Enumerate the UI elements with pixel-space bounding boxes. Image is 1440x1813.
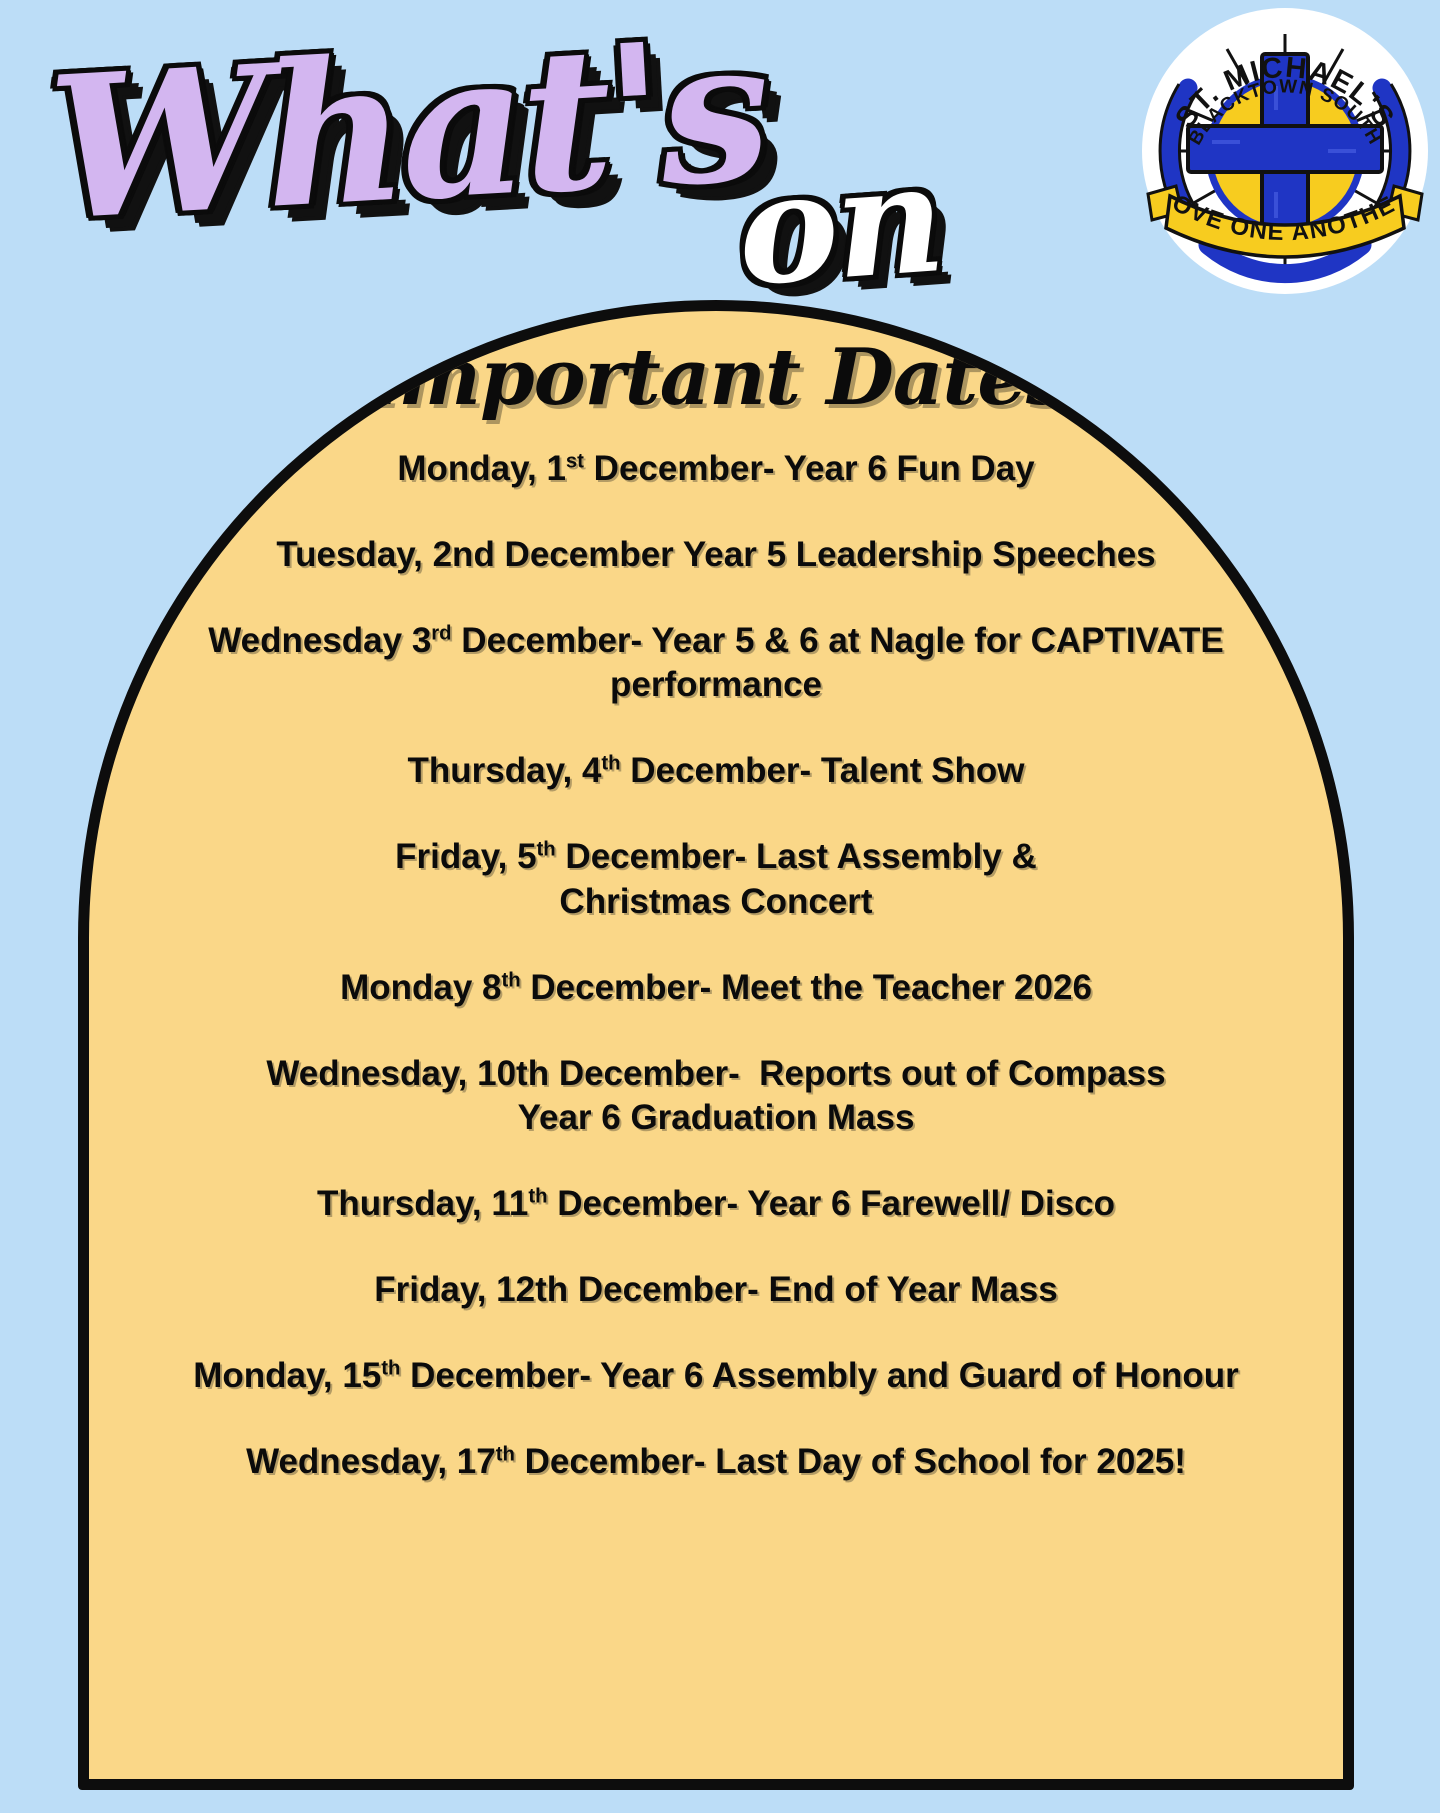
date-entry: Monday, 1st December- Year 6 Fun Day	[113, 447, 1319, 491]
school-crest-logo: ST. MICHAEL'S BLACKTOWN SOUTH "LOVE ONE …	[1140, 6, 1430, 296]
date-entry-ordinal: th	[381, 1357, 400, 1379]
date-entry: Wednesday, 10th December- Reports out of…	[113, 1052, 1319, 1140]
date-entry: Friday, 12th December- End of Year Mass	[113, 1268, 1319, 1312]
date-entry-day: Thursday,	[408, 751, 582, 790]
date-entry-number: 1	[546, 449, 565, 488]
title-word-whats: What's	[45, 12, 769, 248]
date-entry-number: 8	[482, 968, 501, 1007]
date-entry-text: December- Year 6 Assembly and Guard of H…	[400, 1356, 1238, 1395]
date-entry-number: 4	[582, 751, 601, 790]
date-entry: Tuesday, 2nd December Year 5 Leadership …	[113, 533, 1319, 577]
date-entry: Wednesday, 17th December- Last Day of Sc…	[113, 1440, 1319, 1484]
date-entry-number: 15	[342, 1356, 381, 1395]
date-entry-day: Monday,	[193, 1356, 342, 1395]
date-entry-ordinal: th	[601, 753, 620, 775]
date-entry: Thursday, 4th December- Talent Show	[113, 749, 1319, 793]
date-entry-ordinal: th	[501, 969, 520, 991]
date-entry-text: Wednesday, 10th December- Reports out of…	[266, 1054, 1165, 1137]
date-entry-ordinal: th	[537, 839, 556, 861]
date-entry-number: 17	[457, 1442, 496, 1481]
date-entry-text: December- Last Day of School for 2025!	[515, 1442, 1186, 1481]
date-entry-day: Monday,	[397, 449, 546, 488]
date-entry-text: December- Year 6 Fun Day	[584, 449, 1035, 488]
date-entry-number: 11	[491, 1184, 528, 1223]
title-word-on: on	[733, 143, 946, 307]
important-dates-panel: Important Dates Monday, 1st December- Ye…	[78, 300, 1354, 1790]
important-dates-list: Monday, 1st December- Year 6 Fun DayTues…	[89, 447, 1343, 1484]
date-entry-ordinal: rd	[431, 623, 451, 645]
date-entry-day: Wednesday,	[246, 1442, 457, 1481]
date-entry-number: 3	[412, 621, 431, 660]
date-entry-text: December- Year 5 & 6 at Nagle for CAPTIV…	[452, 621, 1234, 704]
date-entry-ordinal: st	[566, 450, 584, 472]
date-entry-day: Monday	[340, 968, 482, 1007]
date-entry-text: December- Year 6 Farewell/ Disco	[548, 1184, 1115, 1223]
date-entry: Friday, 5th December- Last Assembly & Ch…	[113, 835, 1319, 923]
date-entry: Monday, 15th December- Year 6 Assembly a…	[113, 1354, 1319, 1398]
date-entry-text: Tuesday, 2nd December Year 5 Leadership …	[276, 535, 1155, 574]
page-title: What's on	[38, 18, 1128, 318]
panel-heading: Important Dates	[89, 339, 1343, 417]
date-entry-day: Thursday,	[317, 1184, 491, 1223]
date-entry-day: Wednesday	[208, 621, 412, 660]
date-entry-text: Friday, 12th December- End of Year Mass	[374, 1270, 1057, 1309]
date-entry: Thursday, 11th December- Year 6 Farewell…	[113, 1182, 1319, 1226]
date-entry-day: Friday,	[395, 837, 517, 876]
poster-header: What's on	[0, 0, 1440, 330]
date-entry-text: December- Meet the Teacher 2026	[521, 968, 1092, 1007]
date-entry-text: December- Last Assembly & Christmas Conc…	[556, 837, 1037, 920]
date-entry: Monday 8th December- Meet the Teacher 20…	[113, 966, 1319, 1010]
date-entry-number: 5	[517, 837, 536, 876]
date-entry: Wednesday 3rd December- Year 5 & 6 at Na…	[113, 619, 1319, 707]
date-entry-text: December- Talent Show	[621, 751, 1025, 790]
date-entry-ordinal: th	[496, 1444, 515, 1466]
date-entry-ordinal: th	[528, 1185, 547, 1207]
